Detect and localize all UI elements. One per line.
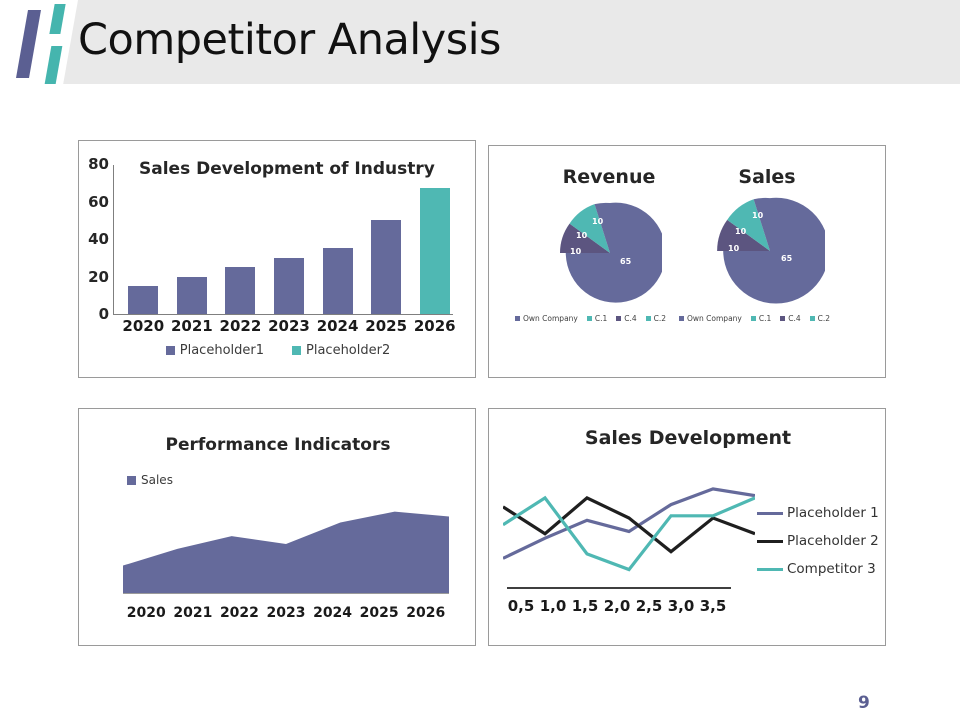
- chart-title-pie-revenue: Revenue: [529, 166, 689, 188]
- chart-card-performance-indicators: Performance Indicators Sales 20202021202…: [78, 408, 476, 646]
- line-chart-plot-area: [503, 471, 755, 583]
- area-chart-plot-area: [123, 495, 449, 593]
- area-chart-legend: Sales: [127, 473, 173, 487]
- pie-sales-label-c4: 10: [735, 227, 746, 236]
- bar-chart-plot-area: [113, 165, 453, 315]
- pie-sales-label-c2: 10: [752, 211, 763, 220]
- area-series-sales: [123, 512, 449, 593]
- legend-label: C.4: [788, 314, 800, 323]
- bar-x-tick: 2021: [169, 317, 215, 335]
- legend-label: Competitor 3: [787, 561, 876, 577]
- line-series: [503, 498, 755, 570]
- legend-line-swatch-icon: [757, 540, 783, 543]
- bar-column: [420, 188, 450, 314]
- logo-bar-purple-icon: [16, 10, 41, 78]
- legend-label: C.1: [759, 314, 771, 323]
- area-x-tick: 2025: [356, 605, 402, 621]
- bar-column: [323, 248, 353, 314]
- legend-label: Own Company: [687, 314, 742, 323]
- line-chart-baseline: [507, 587, 731, 589]
- pie-revenue-label-65: 65: [620, 257, 631, 266]
- bar-y-tick: 0: [79, 305, 109, 323]
- pie-revenue-label-c2: 10: [592, 217, 603, 226]
- pie-sales-legend: Own CompanyC.1C.4C.2: [679, 314, 830, 323]
- chart-card-sales-development-of-industry: Sales Development of Industry 806040200 …: [78, 140, 476, 378]
- line-chart-svg: [503, 471, 755, 583]
- bar-y-tick: 20: [79, 268, 109, 286]
- legend-item: C.2: [810, 314, 830, 323]
- bar-x-tick: 2026: [412, 317, 458, 335]
- bar-x-tick: 2023: [266, 317, 312, 335]
- legend-swatch-icon: [810, 316, 815, 321]
- bar-y-tick: 40: [79, 230, 109, 248]
- bar-column: [274, 258, 304, 314]
- pie-revenue-label-c4: 10: [576, 231, 587, 240]
- legend-item: C.1: [751, 314, 771, 323]
- legend-item: Placeholder 1: [757, 505, 879, 521]
- logo-bar-teal-top-icon: [49, 4, 65, 34]
- line-x-tick: 1,0: [535, 597, 571, 615]
- legend-swatch-icon: [780, 316, 785, 321]
- chart-title-area: Performance Indicators: [79, 435, 477, 455]
- chart-card-revenue-and-sales-pies: Revenue Sales 65 10 10 10 65 10 10: [488, 145, 886, 378]
- chart-title-lines: Sales Development: [489, 427, 887, 449]
- area-x-tick: 2022: [216, 605, 262, 621]
- legend-item: C.1: [587, 314, 607, 323]
- legend-item: Own Company: [679, 314, 742, 323]
- legend-label: Sales: [141, 473, 173, 487]
- pie-chart-sales: 65 10 10 10: [715, 196, 825, 306]
- line-x-tick: 0,5: [503, 597, 539, 615]
- legend-swatch-icon: [515, 316, 520, 321]
- legend-label: Placeholder1: [180, 343, 264, 358]
- line-x-tick: 3,5: [695, 597, 731, 615]
- legend-item: C.4: [616, 314, 636, 323]
- bar-y-tick: 80: [79, 155, 109, 173]
- bar-x-tick: 2024: [315, 317, 361, 335]
- legend-item: Own Company: [515, 314, 578, 323]
- pie-revenue-legend: Own CompanyC.1C.4C.2: [515, 314, 666, 323]
- legend-label: Placeholder2: [306, 343, 390, 358]
- legend-label: C.4: [624, 314, 636, 323]
- legend-item: Placeholder2: [292, 343, 390, 358]
- legend-line-swatch-icon: [757, 512, 783, 515]
- legend-swatch-icon: [679, 316, 684, 321]
- area-chart-svg: [123, 495, 449, 593]
- line-x-tick: 2,0: [599, 597, 635, 615]
- bar-chart-legend: Placeholder1Placeholder2: [79, 343, 477, 358]
- legend-item: Placeholder1: [166, 343, 264, 358]
- bar-x-axis-line: [113, 314, 453, 315]
- area-x-tick: 2026: [403, 605, 449, 621]
- legend-swatch-icon: [127, 476, 136, 485]
- bar-x-tick: 2020: [120, 317, 166, 335]
- legend-swatch-icon: [587, 316, 592, 321]
- page-title: Competitor Analysis: [78, 15, 501, 65]
- legend-item: C.2: [646, 314, 666, 323]
- line-x-tick: 3,0: [663, 597, 699, 615]
- legend-item: Competitor 3: [757, 561, 879, 577]
- bar-x-tick: 2025: [363, 317, 409, 335]
- legend-label: Placeholder 1: [787, 505, 879, 521]
- legend-swatch-icon: [616, 316, 621, 321]
- legend-swatch-icon: [292, 346, 301, 355]
- legend-label: C.1: [595, 314, 607, 323]
- bar-x-tick: 2022: [217, 317, 263, 335]
- bar-y-tick: 60: [79, 193, 109, 211]
- legend-swatch-icon: [751, 316, 756, 321]
- chart-card-sales-development: Sales Development 0,51,01,52,02,53,03,5 …: [488, 408, 886, 646]
- legend-label: C.2: [654, 314, 666, 323]
- legend-swatch-icon: [166, 346, 175, 355]
- area-chart-baseline: [123, 593, 449, 594]
- legend-label: C.2: [818, 314, 830, 323]
- area-x-tick: 2024: [310, 605, 356, 621]
- page-number: 9: [858, 693, 870, 713]
- area-x-tick: 2020: [123, 605, 169, 621]
- legend-label: Placeholder 2: [787, 533, 879, 549]
- pie-chart-revenue: 65 10 10 10: [558, 201, 662, 305]
- legend-item: Sales: [127, 473, 173, 487]
- line-x-tick: 1,5: [567, 597, 603, 615]
- legend-swatch-icon: [646, 316, 651, 321]
- legend-item: C.4: [780, 314, 800, 323]
- bar-column: [371, 220, 401, 314]
- area-x-tick: 2023: [263, 605, 309, 621]
- line-series: [503, 498, 755, 552]
- legend-line-swatch-icon: [757, 568, 783, 571]
- pie-sales-label-65: 65: [781, 254, 792, 263]
- logo-mark: [8, 2, 78, 90]
- pie-revenue-label-c1: 10: [570, 247, 581, 256]
- line-chart-legend: Placeholder 1Placeholder 2Competitor 3: [757, 505, 879, 589]
- bar-y-axis-line: [113, 165, 114, 315]
- chart-title-pie-sales: Sales: [687, 166, 847, 188]
- area-x-tick: 2021: [170, 605, 216, 621]
- bar-column: [128, 286, 158, 314]
- bar-column: [177, 277, 207, 315]
- legend-item: Placeholder 2: [757, 533, 879, 549]
- pie-sales-label-c1: 10: [728, 244, 739, 253]
- legend-label: Own Company: [523, 314, 578, 323]
- bar-column: [225, 267, 255, 314]
- logo-bar-teal-bottom-icon: [45, 46, 63, 84]
- line-x-tick: 2,5: [631, 597, 667, 615]
